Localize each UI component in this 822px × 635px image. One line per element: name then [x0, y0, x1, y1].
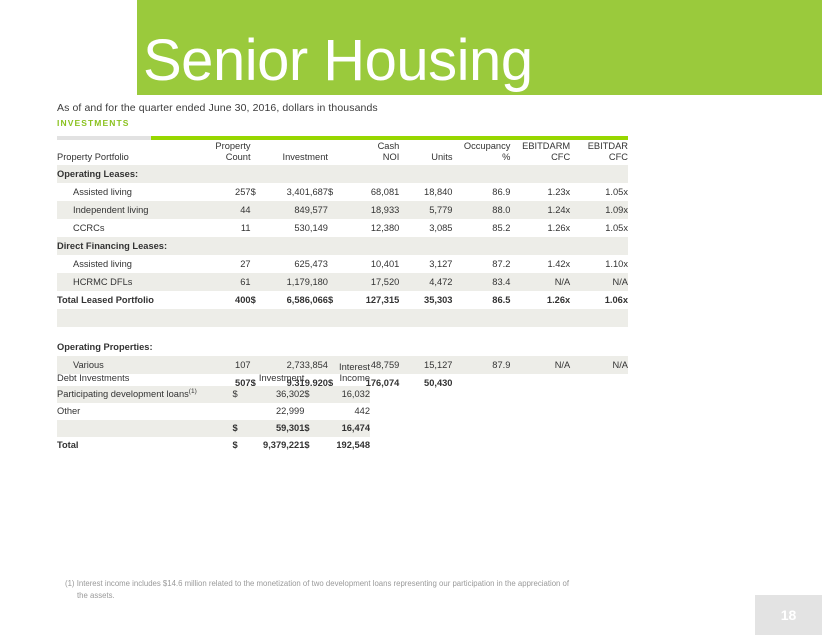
cell-investment: 1,179,180 [260, 273, 328, 291]
cell-dollar-sign-investment: $ [251, 183, 260, 201]
cell-ebitdar-cfc [570, 374, 628, 392]
cell-occupancy: 86.9 [452, 183, 510, 201]
cell-property-count: 27 [196, 255, 251, 273]
row-label: Direct Financing Leases: [57, 237, 196, 255]
cell-dollar-sign-noi [328, 273, 337, 291]
cell-cash-noi: 12,380 [337, 219, 399, 237]
col-dollar-spacer-2 [328, 141, 337, 165]
cell-investment: 6,586,066 [260, 291, 328, 309]
section-kicker: INVESTMENTS [57, 118, 130, 128]
cell-interest-income: 192,548 [315, 437, 370, 454]
cell-ebitdarm-cfc: 1.26x [510, 219, 570, 237]
col-property-count-line1: Property [196, 141, 251, 152]
portfolio-table-head: Property Portfolio Property Count Invest… [57, 141, 628, 165]
row-label: Assisted living [57, 255, 196, 273]
rule-green-segment [151, 136, 628, 140]
cell-investment: 530,149 [260, 219, 328, 237]
cell-ebitdarm-cfc: 1.23x [510, 183, 570, 201]
table-row: Total Leased Portfolio400$6,586,066$127,… [57, 291, 628, 309]
cell-ebitdarm-cfc: 1.24x [510, 201, 570, 219]
row-label: Operating Properties: [57, 338, 196, 356]
row-label: Total [57, 437, 233, 454]
row-label: HCRMC DFLs [57, 273, 196, 291]
rule-gray-segment [57, 136, 151, 140]
footnote-line-1: (1) Interest income includes $14.6 milli… [65, 579, 569, 588]
property-portfolio-table: Property Portfolio Property Count Invest… [57, 141, 628, 392]
row-label [57, 420, 233, 437]
page-number-badge: 18 [755, 595, 822, 635]
table-section-row: Direct Financing Leases: [57, 237, 628, 255]
cell-dollar-sign-investment: $ [233, 437, 244, 454]
col-ebitdar-line1: EBITDAR [570, 141, 628, 152]
col-interest-income: Interest Income [315, 362, 370, 386]
col-interest-income-line1: Interest [315, 362, 370, 373]
table-row: Total$9,379,221$192,548 [57, 437, 370, 454]
cell-dollar-sign-investment [251, 219, 260, 237]
row-label [57, 309, 196, 327]
col-interest-income-line2: Income [315, 373, 370, 384]
row-empty-cells [196, 165, 628, 183]
col-debt-dollar-spacer-2 [304, 362, 315, 386]
cell-occupancy: 85.2 [452, 219, 510, 237]
debt-header-row: Debt Investments Investment Interest Inc… [57, 362, 370, 386]
cell-investment: 36,302 [243, 386, 304, 403]
col-property-portfolio: Property Portfolio [57, 141, 196, 165]
row-empty-cells [196, 237, 628, 255]
cell-units: 50,430 [399, 374, 452, 392]
title-banner: Senior Housing [137, 0, 822, 95]
col-property-count-line2: Count [196, 152, 251, 163]
row-label: Assisted living [57, 183, 196, 201]
col-dollar-spacer-1 [251, 141, 260, 165]
cell-ebitdar-cfc: N/A [570, 356, 628, 374]
table-row: CCRCs11530,14912,3803,08585.21.26x1.05x [57, 219, 628, 237]
cell-dollar-sign-investment [251, 255, 260, 273]
cell-dollar-sign-noi [328, 201, 337, 219]
col-ebitdar-cfc: EBITDAR CFC [570, 141, 628, 165]
table-row: Participating development loans(1)$36,30… [57, 386, 370, 403]
portfolio-table-body: Operating Leases:Assisted living257$3,40… [57, 165, 628, 392]
row-label: Independent living [57, 201, 196, 219]
cell-dollar-sign-investment [251, 273, 260, 291]
cell-ebitdar-cfc: 1.10x [570, 255, 628, 273]
footnote-line-2: the assets. [65, 590, 685, 602]
report-subtitle: As of and for the quarter ended June 30,… [57, 102, 378, 114]
footnote: (1) Interest income includes $14.6 milli… [65, 578, 685, 602]
cell-investment: 849,577 [260, 201, 328, 219]
cell-dollar-sign-investment: $ [251, 291, 260, 309]
debt-table-body: Participating development loans(1)$36,30… [57, 386, 370, 454]
cell-property-count: 44 [196, 201, 251, 219]
cell-ebitdarm-cfc: 1.42x [510, 255, 570, 273]
cell-ebitdar-cfc: N/A [570, 273, 628, 291]
cell-interest-income: 16,032 [315, 386, 370, 403]
col-occupancy-line2: % [452, 152, 510, 163]
cell-cash-noi: 68,081 [337, 183, 399, 201]
col-ebitdarm-line1: EBITDARM [510, 141, 570, 152]
cell-dollar-sign-income: $ [304, 437, 315, 454]
slide-page: Senior Housing As of and for the quarter… [0, 0, 822, 635]
cell-dollar-sign-investment: $ [233, 420, 244, 437]
table-section-row: Operating Leases: [57, 165, 628, 183]
cell-ebitdarm-cfc [510, 374, 570, 392]
cell-investment: 625,473 [260, 255, 328, 273]
table-spacer-cell [57, 327, 628, 338]
cell-investment: 59,301 [243, 420, 304, 437]
col-ebitdarm-cfc: EBITDARM CFC [510, 141, 570, 165]
cell-occupancy [452, 374, 510, 392]
cell-investment: 9,379,221 [243, 437, 304, 454]
cell-dollar-sign-noi [328, 219, 337, 237]
row-empty-cells [196, 309, 628, 327]
cell-dollar-sign-noi [328, 255, 337, 273]
cell-units: 35,303 [399, 291, 452, 309]
table-row: Independent living44849,57718,9335,77988… [57, 201, 628, 219]
cell-occupancy: 87.9 [452, 356, 510, 374]
cell-ebitdar-cfc: 1.05x [570, 183, 628, 201]
table-row: Assisted living27625,47310,4013,12787.21… [57, 255, 628, 273]
cell-cash-noi: 127,315 [337, 291, 399, 309]
cell-ebitdar-cfc: 1.09x [570, 201, 628, 219]
col-debt-investments: Debt Investments [57, 362, 233, 386]
cell-dollar-sign-noi: $ [328, 183, 337, 201]
col-debt-investment: Investment [243, 362, 304, 386]
table-row: Other22,999442 [57, 403, 370, 420]
col-cash-noi-line2: NOI [337, 152, 399, 163]
col-occupancy: Occupancy % [452, 141, 510, 165]
row-label: Operating Leases: [57, 165, 196, 183]
col-ebitdar-line2: CFC [570, 152, 628, 163]
table-row: $59,301$16,474 [57, 420, 370, 437]
cell-investment: 3,401,687 [260, 183, 328, 201]
page-number: 18 [755, 607, 822, 623]
row-label: CCRCs [57, 219, 196, 237]
cell-property-count: 11 [196, 219, 251, 237]
cell-cash-noi: 17,520 [337, 273, 399, 291]
row-empty-cells [196, 338, 628, 356]
cell-property-count: 400 [196, 291, 251, 309]
col-occupancy-line1: Occupancy [452, 141, 510, 152]
cell-ebitdar-cfc: 1.06x [570, 291, 628, 309]
col-debt-dollar-spacer-1 [233, 362, 244, 386]
cell-occupancy: 86.5 [452, 291, 510, 309]
cell-units: 3,085 [399, 219, 452, 237]
cell-ebitdar-cfc: 1.05x [570, 219, 628, 237]
col-cash-noi-line1: Cash [337, 141, 399, 152]
portfolio-header-row: Property Portfolio Property Count Invest… [57, 141, 628, 165]
cell-dollar-sign-investment [251, 201, 260, 219]
col-cash-noi: Cash NOI [337, 141, 399, 165]
cell-interest-income: 16,474 [315, 420, 370, 437]
cell-interest-income: 442 [315, 403, 370, 420]
cell-investment: 22,999 [243, 403, 304, 420]
col-investment: Investment [260, 141, 328, 165]
cell-ebitdarm-cfc: 1.26x [510, 291, 570, 309]
table-row: HCRMC DFLs611,179,18017,5204,47283.4N/AN… [57, 273, 628, 291]
cell-units: 4,472 [399, 273, 452, 291]
cell-dollar-sign-noi: $ [328, 291, 337, 309]
table-row: Assisted living257$3,401,687$68,08118,84… [57, 183, 628, 201]
col-property-count: Property Count [196, 141, 251, 165]
cell-ebitdarm-cfc: N/A [510, 356, 570, 374]
row-label: Participating development loans(1) [57, 386, 233, 403]
cell-ebitdarm-cfc: N/A [510, 273, 570, 291]
cell-dollar-sign-income: $ [304, 386, 315, 403]
table-row [57, 309, 628, 327]
cell-units: 15,127 [399, 356, 452, 374]
row-label: Total Leased Portfolio [57, 291, 196, 309]
row-label: Other [57, 403, 233, 420]
cell-occupancy: 87.2 [452, 255, 510, 273]
table-spacer-row [57, 327, 628, 338]
cell-dollar-sign-investment: $ [233, 386, 244, 403]
cell-units: 5,779 [399, 201, 452, 219]
cell-units: 3,127 [399, 255, 452, 273]
debt-investments-table: Debt Investments Investment Interest Inc… [57, 362, 370, 454]
col-ebitdarm-line2: CFC [510, 152, 570, 163]
cell-dollar-sign-investment [233, 403, 244, 420]
cell-dollar-sign-income [304, 403, 315, 420]
cell-occupancy: 88.0 [452, 201, 510, 219]
col-units: Units [399, 141, 452, 165]
debt-table-head: Debt Investments Investment Interest Inc… [57, 362, 370, 386]
cell-property-count: 257 [196, 183, 251, 201]
page-title: Senior Housing [143, 32, 533, 90]
cell-cash-noi: 18,933 [337, 201, 399, 219]
cell-dollar-sign-income: $ [304, 420, 315, 437]
cell-cash-noi: 10,401 [337, 255, 399, 273]
cell-units: 18,840 [399, 183, 452, 201]
cell-occupancy: 83.4 [452, 273, 510, 291]
cell-property-count: 61 [196, 273, 251, 291]
table-section-row: Operating Properties: [57, 338, 628, 356]
footnote-marker: (1) [189, 388, 197, 395]
